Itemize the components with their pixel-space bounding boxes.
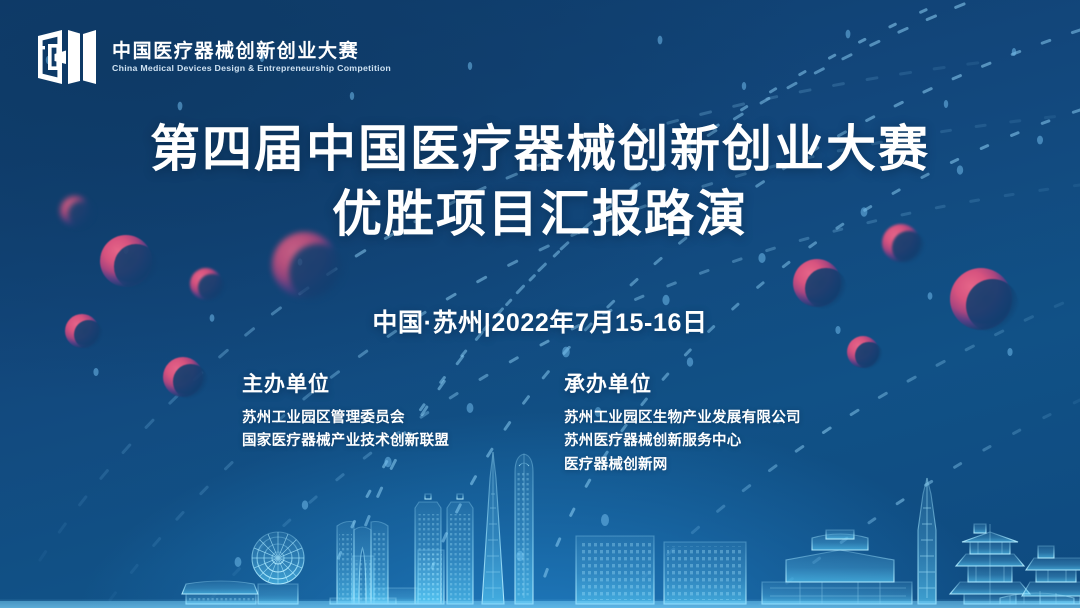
brand-logo: 中国医疗器械创新创业大赛 China Medical Devices Desig… [36,28,386,86]
organizers-section: 主办单位 苏州工业园区管理委员会 国家医疗器械产业技术创新联盟 承办单位 苏州工… [0,368,1080,477]
organizer-group-coorganizer: 承办单位 苏州工业园区生物产业发展有限公司 苏州医疗器械创新服务中心 医疗器械创… [540,368,850,477]
logo-title-en: China Medical Devices Design & Entrepren… [112,64,391,73]
decorative-sphere [190,268,222,300]
organizer-item: 苏州医疗器械创新服务中心 [564,430,850,453]
organizer-group-host: 主办单位 苏州工业园区管理委员会 国家医疗器械产业技术创新联盟 [230,368,540,477]
decorative-sphere [100,235,152,287]
hero-title: 第四届中国医疗器械创新创业大赛 优胜项目汇报路演 [0,124,1080,240]
organizer-item: 苏州工业园区生物产业发展有限公司 [564,407,850,430]
title-line-1: 第四届中国医疗器械创新创业大赛 [0,124,1080,175]
event-location-date: 中国·苏州|2022年7月15-16日 [0,303,1080,339]
organizer-heading: 承办单位 [564,368,850,398]
title-line-2: 优胜项目汇报路演 [0,189,1080,240]
organizer-item: 医疗器械创新网 [564,454,850,477]
organizer-heading: 主办单位 [242,368,540,398]
decorative-sphere [272,232,338,298]
organizer-item: 国家医疗器械产业技术创新联盟 [242,430,540,453]
open-door-window-icon [36,28,98,86]
organizer-item: 苏州工业园区管理委员会 [242,407,540,430]
logo-title-cn: 中国医疗器械创新创业大赛 [112,42,386,61]
event-poster: 中国医疗器械创新创业大赛 China Medical Devices Desig… [0,0,1080,608]
decorative-sphere [793,259,841,307]
decorative-sphere [847,336,879,368]
skyline-ground-line [0,599,1080,608]
